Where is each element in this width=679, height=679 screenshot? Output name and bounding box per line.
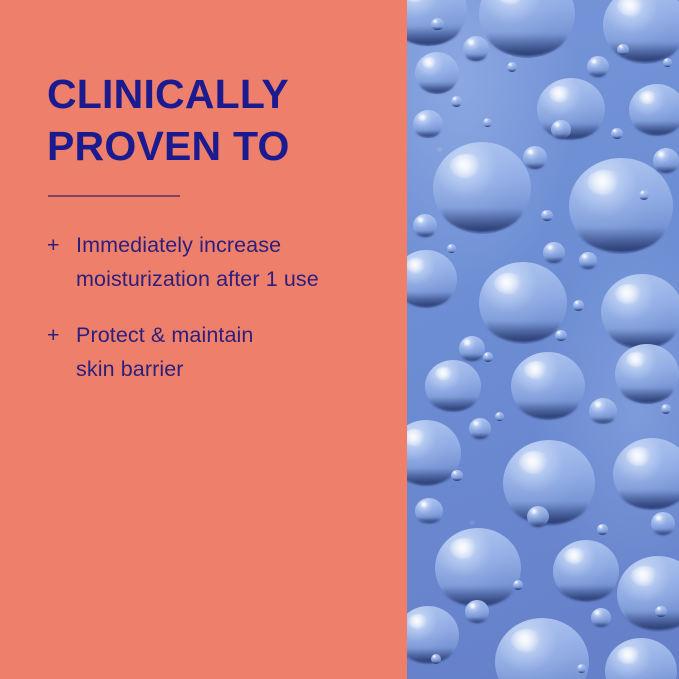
water-drop xyxy=(551,120,571,139)
benefit-line-1: Immediately increase xyxy=(76,228,392,262)
water-drop xyxy=(617,44,629,55)
water-drop xyxy=(469,418,491,439)
benefit-line-2: moisturization after 1 use xyxy=(76,262,392,296)
water-drop xyxy=(495,618,589,679)
water-drop xyxy=(663,58,672,67)
water-drop xyxy=(639,190,649,200)
water-drop xyxy=(651,512,675,535)
water-drop xyxy=(479,262,567,344)
water-drop xyxy=(591,608,611,627)
water-drop xyxy=(413,214,437,237)
water-drop xyxy=(415,498,443,524)
water-drop xyxy=(579,252,597,269)
water-drop xyxy=(527,506,549,527)
water-drop xyxy=(617,556,679,632)
water-drop xyxy=(431,18,444,30)
water-drop xyxy=(431,654,441,664)
water-drop xyxy=(537,78,605,140)
water-drop xyxy=(603,0,679,64)
water-drop xyxy=(451,96,462,107)
water-drop xyxy=(605,638,677,679)
water-drop xyxy=(479,0,575,58)
water-drop xyxy=(629,84,679,136)
water-drop xyxy=(507,62,517,72)
water-drop xyxy=(407,250,457,308)
divider-rule xyxy=(48,195,180,197)
water-drop xyxy=(513,580,523,590)
benefit-text: Protect & maintain skin barrier xyxy=(76,318,392,386)
water-drop xyxy=(597,524,608,535)
plus-icon: + xyxy=(47,318,67,352)
water-drop xyxy=(511,352,585,420)
water-drop xyxy=(451,470,463,481)
water-drop xyxy=(435,528,521,608)
water-drop xyxy=(459,336,485,361)
benefit-line-1: Protect & maintain xyxy=(76,318,392,352)
clinically-proven-poster: CLINICALLY PROVEN TO + Immediately incre… xyxy=(0,0,679,679)
list-item: + Immediately increase moisturization af… xyxy=(47,228,392,296)
water-drop xyxy=(615,344,679,404)
water-drop xyxy=(413,110,443,138)
water-drop xyxy=(613,438,679,510)
benefits-list: + Immediately increase moisturization af… xyxy=(47,228,392,386)
water-drop xyxy=(553,540,619,602)
water-drop xyxy=(587,56,609,77)
water-drop xyxy=(573,300,584,311)
water-drop xyxy=(655,606,667,617)
water-drop xyxy=(661,404,671,414)
water-drop xyxy=(601,274,679,350)
water-drop xyxy=(653,148,679,173)
water-drop xyxy=(463,36,489,61)
benefit-line-2: skin barrier xyxy=(76,352,392,386)
water-drop xyxy=(523,146,547,169)
water-drop xyxy=(611,128,623,139)
page-title: CLINICALLY PROVEN TO xyxy=(47,68,377,172)
water-drop xyxy=(465,600,489,623)
water-drop xyxy=(589,398,617,424)
water-drop xyxy=(495,412,504,421)
water-drop xyxy=(433,142,531,234)
headline-line-1: CLINICALLY xyxy=(47,68,377,120)
water-drop xyxy=(577,664,586,673)
water-drop xyxy=(569,158,673,254)
water-drop xyxy=(415,52,459,94)
list-item: + Protect & maintain skin barrier xyxy=(47,318,392,386)
water-droplets-photo xyxy=(407,0,679,679)
water-drop xyxy=(541,210,553,221)
water-drop xyxy=(425,360,481,412)
water-drop xyxy=(447,244,456,253)
water-drop xyxy=(483,118,492,127)
plus-icon: + xyxy=(47,228,67,262)
benefit-text: Immediately increase moisturization afte… xyxy=(76,228,392,296)
copy-panel: CLINICALLY PROVEN TO + Immediately incre… xyxy=(0,0,407,679)
water-drop xyxy=(543,242,565,263)
headline-line-2: PROVEN TO xyxy=(47,120,377,172)
water-drop xyxy=(503,440,595,526)
water-drop xyxy=(483,352,493,362)
water-drop xyxy=(555,330,567,341)
